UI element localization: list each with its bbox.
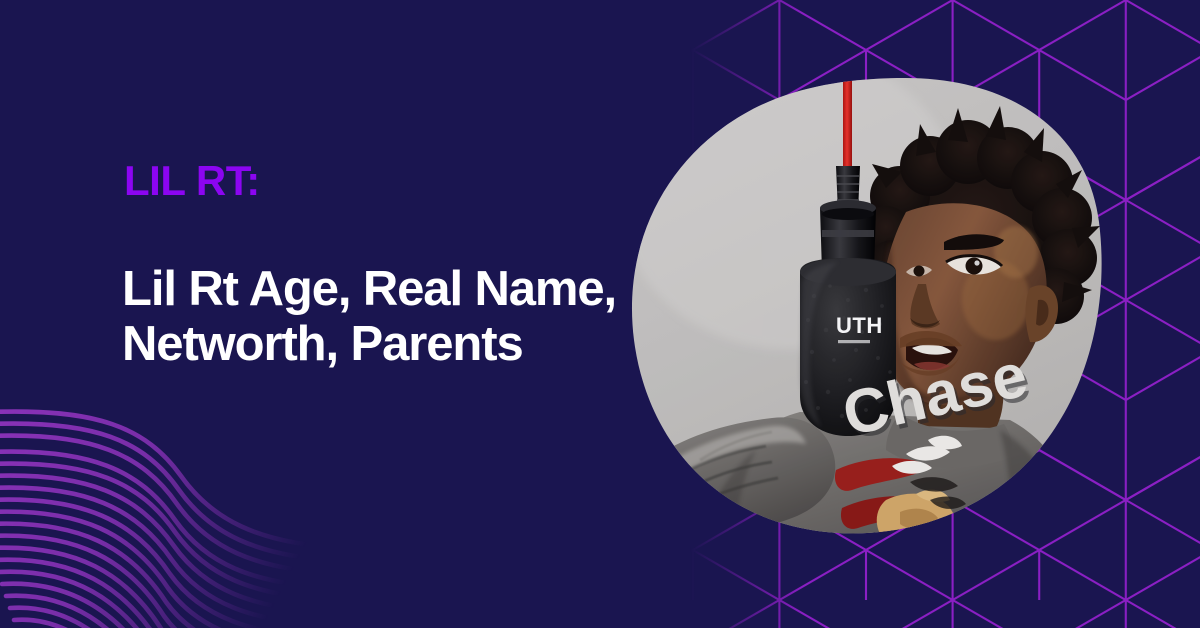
banner-graphic: UTH [0,0,1200,628]
sweatshirt-text-group: Chase Chase [837,341,1037,454]
text-block: LIL RT: Lil Rt Age, Real Name, Networth,… [0,0,640,628]
eyebrow-label: LIL RT: [124,160,260,202]
page-title: Lil Rt Age, Real Name, Networth, Parents [122,262,622,373]
sweatshirt-text: Chase [837,341,1034,450]
svg-text:Chase: Chase [840,345,1037,454]
mic-windscreen-text: UTH [836,313,883,338]
